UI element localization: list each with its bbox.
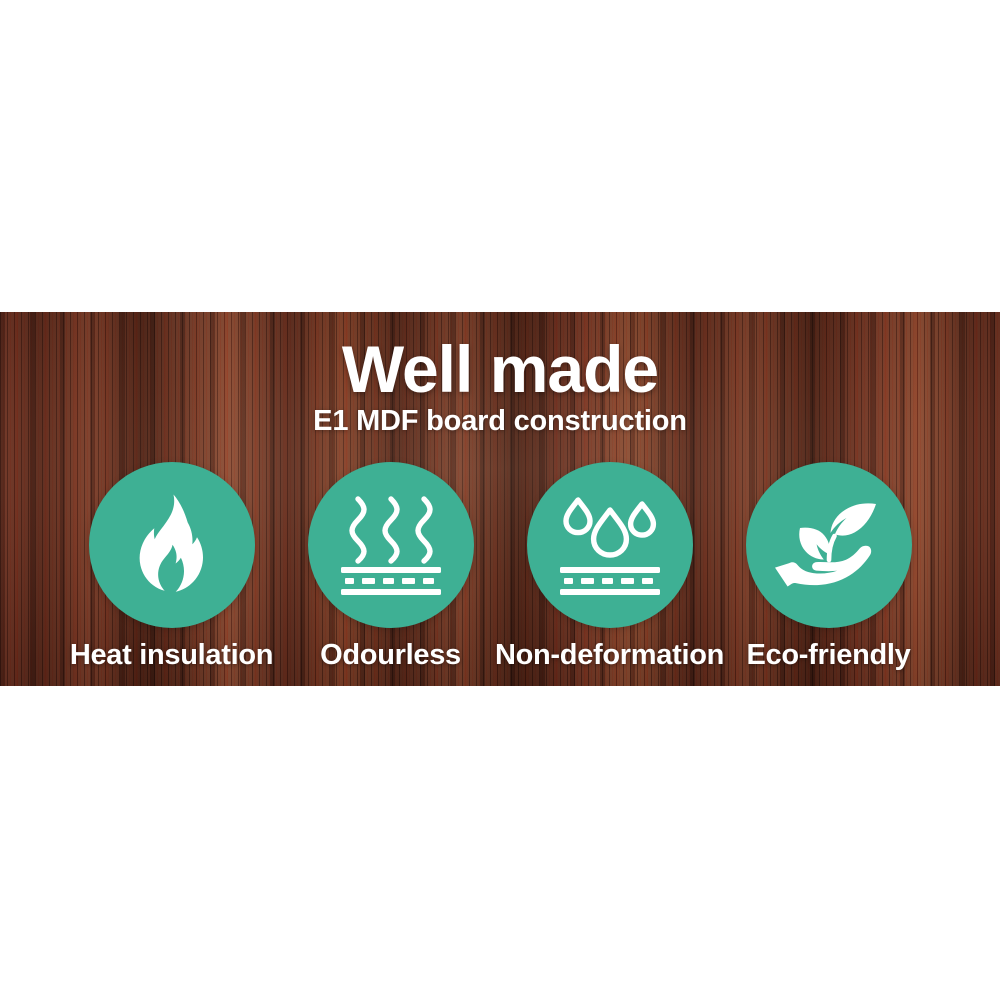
feature-badge [308,462,474,628]
feature-list: Heat insulation [62,462,938,672]
product-feature-banner-page: Well made E1 MDF board construction Heat… [0,0,1000,1000]
page-title: Well made [0,336,1000,402]
feature-label: Eco-friendly [747,640,911,672]
feature-item-non-deformation: Non-deformation [500,462,719,672]
feature-item-odourless: Odourless [281,462,500,672]
wood-texture-banner: Well made E1 MDF board construction Heat… [0,312,1000,686]
feature-label: Odourless [320,640,461,672]
feature-label: Non-deformation [495,640,724,672]
odour-waves-board-icon [337,493,445,597]
feature-item-eco-friendly: Eco-friendly [719,462,938,672]
feature-badge [527,462,693,628]
flame-icon [128,493,216,597]
feature-label: Heat insulation [70,640,273,672]
water-droplets-board-icon [556,493,664,597]
feature-badge [89,462,255,628]
hand-holding-plant-icon [773,502,885,588]
feature-item-heat-insulation: Heat insulation [62,462,281,672]
page-subtitle: E1 MDF board construction [0,407,1000,436]
feature-badge [746,462,912,628]
banner-content: Well made E1 MDF board construction Heat… [0,312,1000,686]
